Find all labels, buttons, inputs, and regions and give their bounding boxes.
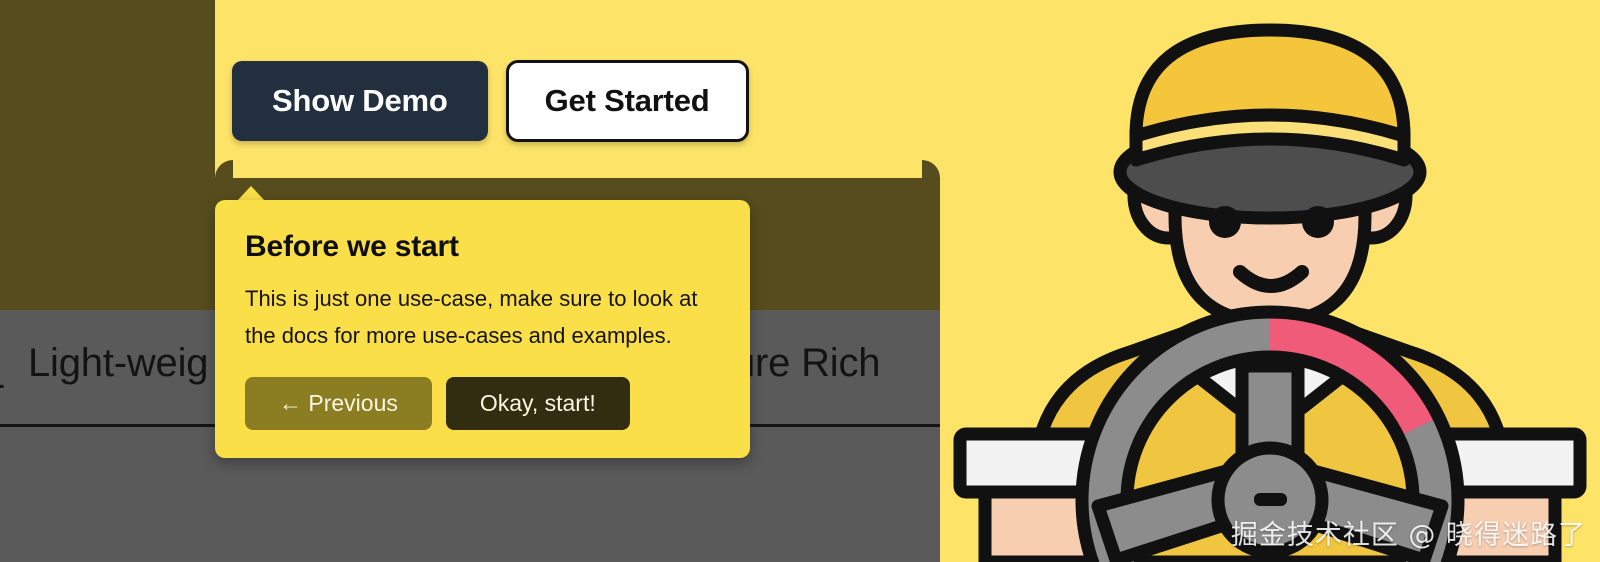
watermark: 掘金技术社区 @ 晓得迷路了 [1231, 513, 1586, 552]
tour-popover: Before we start This is just one use-cas… [215, 200, 750, 458]
driver-with-steering-wheel-icon [940, 0, 1600, 562]
popover-body-text: This is just one use-case, make sure to … [245, 280, 720, 355]
driver-illustration-pane [940, 0, 1600, 562]
get-started-button[interactable]: Get Started [506, 60, 749, 142]
popover-title: Before we start [245, 230, 720, 264]
cta-button-row: Show Demo Get Started [232, 60, 749, 142]
okay-start-button[interactable]: Okay, start! [446, 377, 630, 430]
screenshot-root: - Light-weig ature Rich [0, 0, 1600, 562]
previous-button[interactable]: ← Previous [245, 377, 432, 430]
feature-leading-dash: - [0, 362, 5, 407]
popover-footer: ← Previous Okay, start! [245, 377, 720, 430]
show-demo-button[interactable]: Show Demo [232, 61, 488, 141]
feature-label-light-weight: Light-weig [28, 341, 208, 386]
